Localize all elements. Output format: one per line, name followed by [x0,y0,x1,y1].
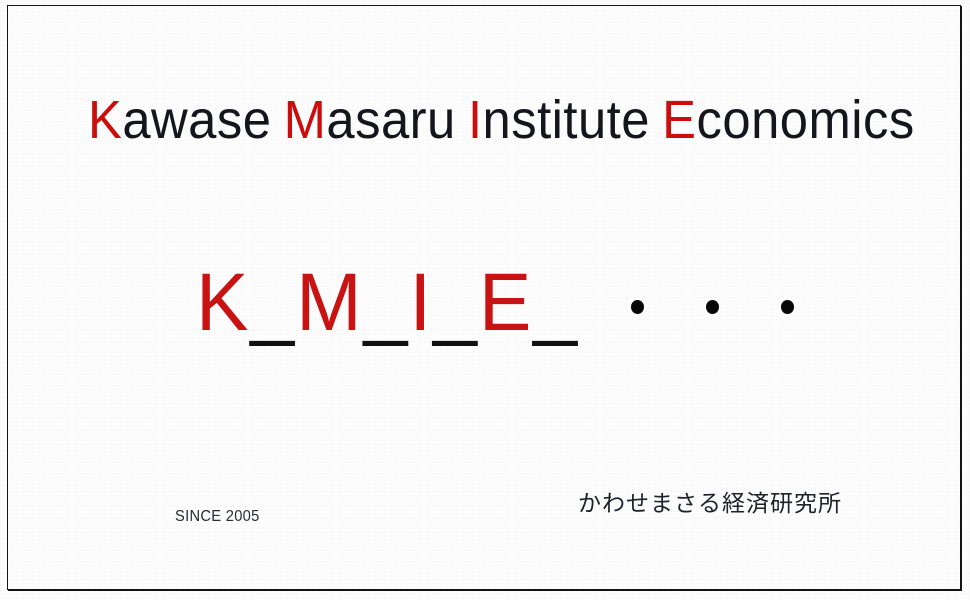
logo-dot-1 [631,300,644,314]
since-label: SINCE 2005 [175,508,260,526]
page-title: KawaseMasaruInstituteEconomics [88,93,915,147]
title-word-economics: Economics [662,90,914,150]
title-word-masaru: Masaru [284,90,456,150]
title-word-kawase: Kawase [88,90,271,150]
logo-underscore-4: _ [533,257,579,348]
logo-ellipsis-dots [631,300,794,314]
title-initial-k: K [88,90,122,150]
logo-letter-m: M [296,257,364,348]
title-rest-asaru: asaru [326,90,455,150]
logo-canvas: KawaseMasaruInstituteEconomics K_M_I_E_ … [0,0,970,600]
title-initial-m: M [284,90,327,150]
logo-letter-k: K [196,257,250,348]
title-rest-awase: awase [122,90,271,150]
logo-lockup: K_M_I_E_ [196,262,794,344]
title-rest-nstitute: nstitute [483,90,650,150]
logo-dot-3 [781,300,794,314]
logo-underscore-3: _ [433,257,479,348]
logo-underscore-1: _ [250,257,296,348]
japanese-institute-name: かわせまさる経済研究所 [578,484,842,518]
logo-letter-e: E [479,257,533,348]
title-initial-i: I [468,90,483,150]
logo-acronym: K_M_I_E_ [196,262,579,344]
title-word-institute: Institute [468,90,650,150]
logo-dot-2 [706,300,719,314]
logo-letter-i: I [409,257,433,348]
logo-underscore-2: _ [364,257,410,348]
title-rest-conomics: conomics [697,90,915,150]
title-initial-e: E [662,90,696,150]
